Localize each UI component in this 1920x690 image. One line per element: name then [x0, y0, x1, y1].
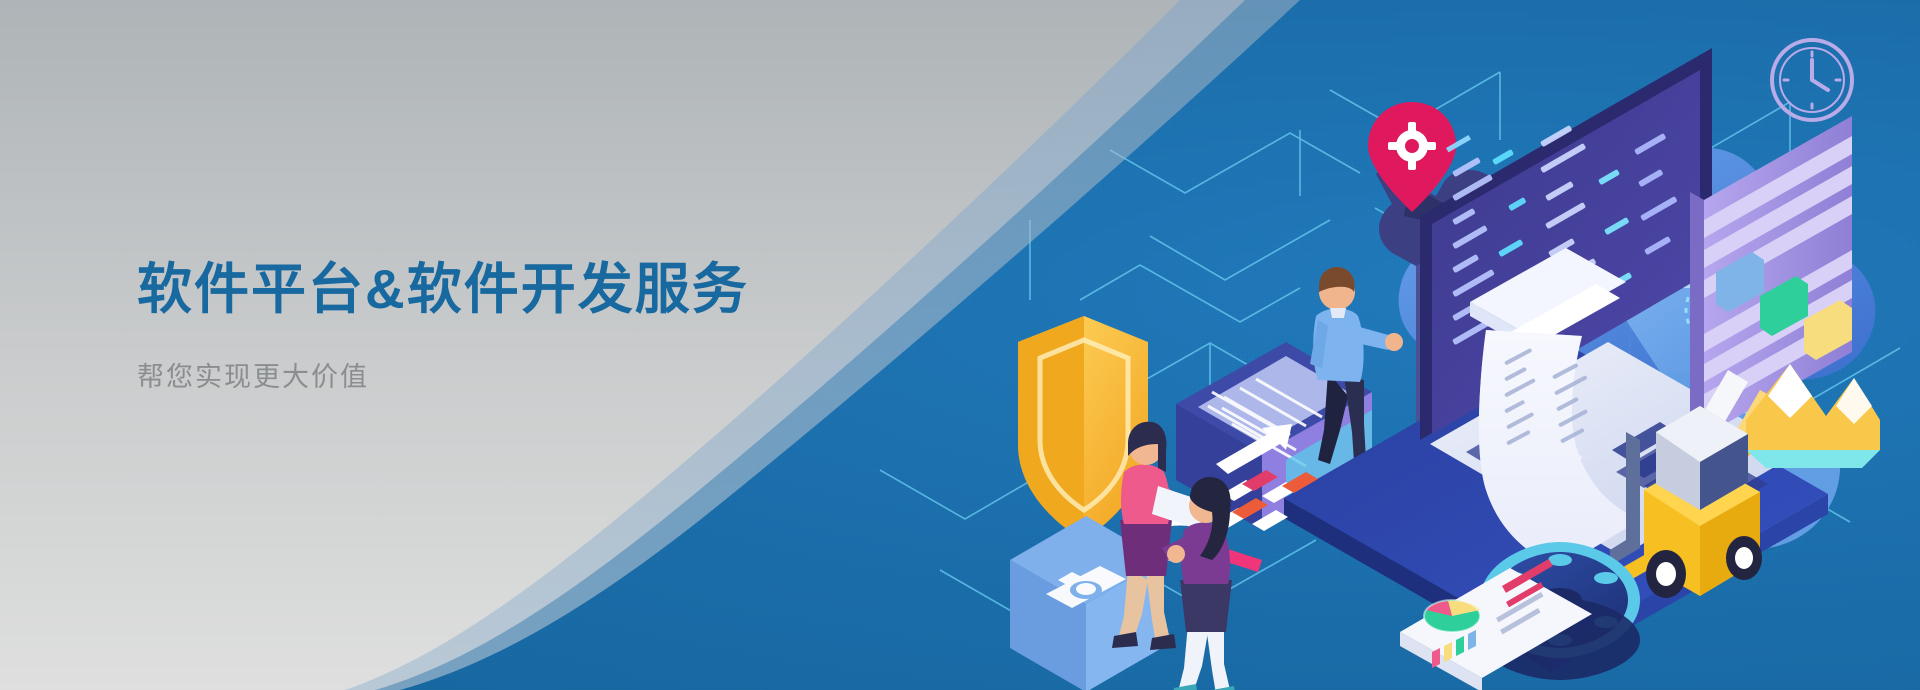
banner-text-block: 软件平台&软件开发服务 帮您实现更大价值 [137, 258, 957, 394]
page-subtitle: 帮您实现更大价值 [137, 320, 957, 394]
hero-banner: 软件平台&软件开发服务 帮您实现更大价值 [0, 0, 1920, 690]
page-title: 软件平台&软件开发服务 [137, 258, 957, 320]
